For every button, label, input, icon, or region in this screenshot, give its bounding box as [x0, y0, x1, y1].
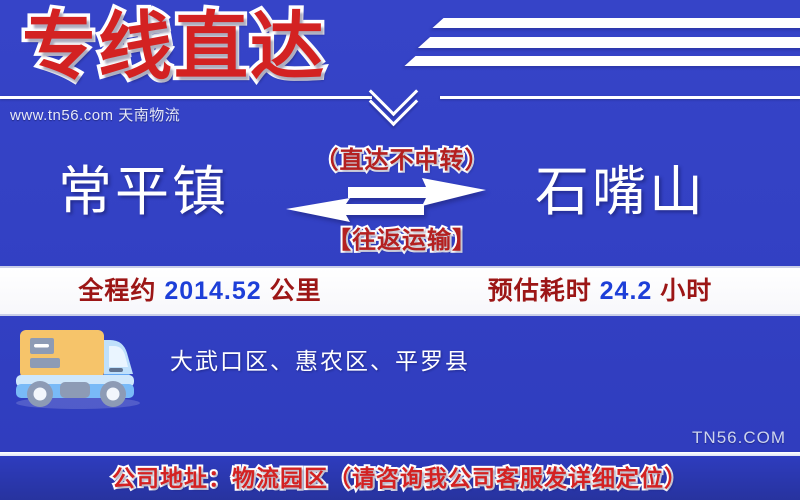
round-trip-note: 【往返运输】: [272, 220, 532, 255]
logistics-route-poster: 专线直达 www.tn56.com 天南物流 常平镇 石嘴山 （直达不中转） 【…: [0, 0, 800, 500]
company-address-label: 公司地址：物流园区（请咨询我公司客服发详细定位）: [0, 458, 800, 498]
origin-city: 常平镇: [58, 160, 229, 224]
brand-watermark: TN56.COM: [692, 428, 786, 448]
route-stats-band: 全程约 2014.52 公里 预估耗时 24.2 小时: [0, 266, 800, 316]
duration-stat: 预估耗时 24.2 小时: [400, 268, 800, 314]
duration-prefix-label: 预估耗时: [488, 277, 592, 305]
distance-stat: 全程约 2014.52 公里: [0, 268, 400, 314]
page-title: 专线直达: [22, 4, 326, 90]
header-divider-right: [440, 96, 800, 99]
destination-city: 石嘴山: [535, 160, 706, 224]
duration-value: 24.2: [600, 277, 653, 305]
coverage-areas-label: 大武口区、惠农区、平罗县: [170, 342, 470, 376]
site-url-label: www.tn56.com 天南物流: [10, 104, 180, 125]
distance-prefix-label: 全程约: [78, 277, 156, 305]
distance-value: 2014.52: [164, 277, 261, 305]
duration-unit-label: 小时: [660, 277, 712, 305]
delivery-truck-icon: [8, 318, 148, 410]
direct-service-note: （直达不中转）: [272, 140, 532, 175]
distance-unit-label: 公里: [270, 277, 322, 305]
header-divider-left: [0, 96, 372, 99]
bidirectional-arrow-icon: [286, 178, 486, 222]
